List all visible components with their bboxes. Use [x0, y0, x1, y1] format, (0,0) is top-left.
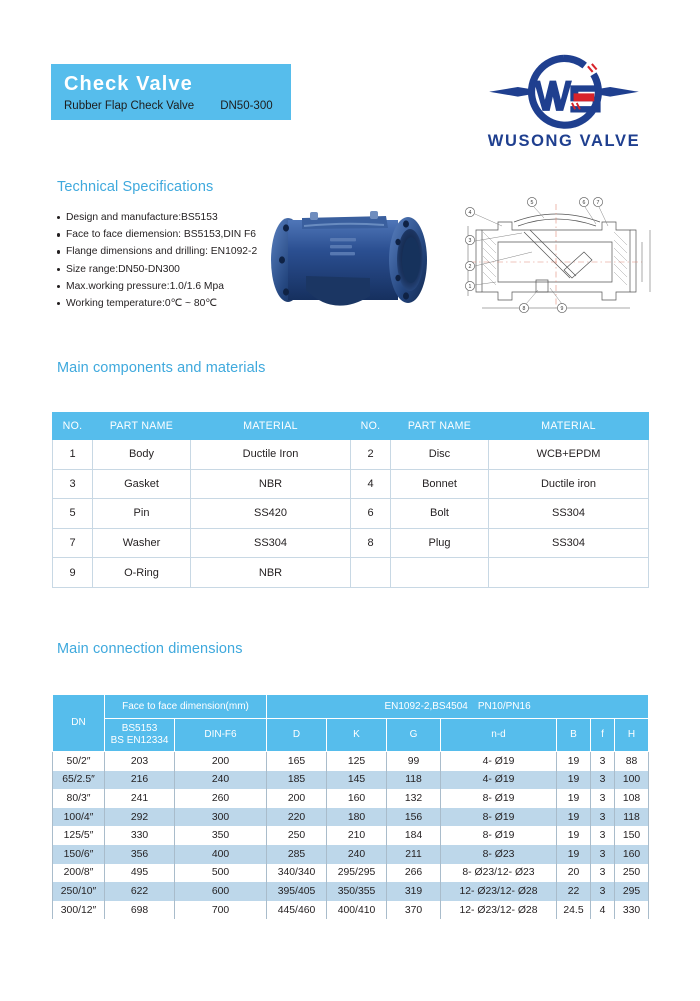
- cell-f: 3: [591, 789, 615, 808]
- section-heading-technical: Technical Specifications: [57, 179, 213, 195]
- cell-h: 108: [615, 789, 649, 808]
- cell-partname: Washer: [93, 528, 191, 558]
- callout-2: 2: [469, 264, 472, 270]
- cell-bs5153: 203: [105, 752, 175, 771]
- dimensions-table: DN Face to face dimension(mm) EN1092-2,B…: [52, 694, 649, 919]
- cell-nd: 8- Ø19: [441, 789, 557, 808]
- table-row: 125/5″ 330 350 250 210 184 8- Ø19 19 3 1…: [53, 826, 649, 845]
- cell-dn: 100/4″: [53, 808, 105, 827]
- cell-material: SS304: [489, 528, 649, 558]
- cell-g: 132: [387, 789, 441, 808]
- cell-b: 19: [557, 789, 591, 808]
- page-subtitle: Rubber Flap Check Valve: [64, 99, 194, 113]
- col-g: G: [387, 719, 441, 752]
- callout-3: 3: [469, 238, 472, 244]
- col-group-face-to-face: Face to face dimension(mm): [105, 695, 267, 719]
- cell-nd: 8- Ø19: [441, 826, 557, 845]
- col-no-1: NO.: [53, 413, 93, 440]
- cell-k: 160: [327, 789, 387, 808]
- callout-1: 1: [469, 284, 472, 290]
- title-banner: Check Valve Rubber Flap Check Valve DN50…: [51, 64, 291, 120]
- cell-d: 340/340: [267, 864, 327, 883]
- cell-b: 19: [557, 752, 591, 771]
- col-group-en1092: EN1092-2,BS4504 PN10/PN16: [267, 695, 649, 719]
- col-material-1: MATERIAL: [191, 413, 351, 440]
- cell-b: 19: [557, 808, 591, 827]
- cell-k: 145: [327, 771, 387, 790]
- spec-item: Flange dimensions and drilling: EN1092-2: [57, 243, 277, 260]
- col-no-2: NO.: [351, 413, 391, 440]
- cell-h: 160: [615, 845, 649, 864]
- cell-f: 4: [591, 901, 615, 920]
- cell-f: 3: [591, 771, 615, 790]
- materials-table: NO. PART NAME MATERIAL NO. PART NAME MAT…: [52, 412, 649, 588]
- cell-material: Ductile Iron: [191, 440, 351, 470]
- table-group-header-row: DN Face to face dimension(mm) EN1092-2,B…: [53, 695, 649, 719]
- spec-item: Working temperature:0℃ ~ 80℃: [57, 295, 277, 312]
- table-row: 5 Pin SS420 6 Bolt SS304: [53, 499, 649, 529]
- callout-6: 6: [583, 200, 586, 206]
- cell-dinf6: 240: [175, 771, 267, 790]
- table-row: 200/8″ 495 500 340/340 295/295 266 8- Ø2…: [53, 864, 649, 883]
- cell-g: 319: [387, 882, 441, 901]
- cell-dn: 125/5″: [53, 826, 105, 845]
- cell-b: 19: [557, 826, 591, 845]
- cell-d: 185: [267, 771, 327, 790]
- cell-dn: 150/6″: [53, 845, 105, 864]
- cell-dinf6: 400: [175, 845, 267, 864]
- cell-k: 295/295: [327, 864, 387, 883]
- cell-no: 6: [351, 499, 391, 529]
- cell-f: 3: [591, 808, 615, 827]
- cell-bs5153: 330: [105, 826, 175, 845]
- cell-g: 184: [387, 826, 441, 845]
- spec-item: Size range:DN50-DN300: [57, 261, 277, 278]
- cell-h: 250: [615, 864, 649, 883]
- section-heading-dimensions: Main connection dimensions: [57, 641, 243, 657]
- cell-dinf6: 300: [175, 808, 267, 827]
- product-photo: [258, 198, 444, 320]
- cell-material: SS420: [191, 499, 351, 529]
- cell-material: NBR: [191, 558, 351, 588]
- cell-material: NBR: [191, 469, 351, 499]
- company-logo: WUSONG VALVE: [484, 52, 644, 151]
- cell-material: WCB+EPDM: [489, 440, 649, 470]
- table-row: 150/6″ 356 400 285 240 211 8- Ø23 19 3 1…: [53, 845, 649, 864]
- cell-d: 285: [267, 845, 327, 864]
- cell-d: 165: [267, 752, 327, 771]
- col-h: H: [615, 719, 649, 752]
- col-b: B: [557, 719, 591, 752]
- col-bs5153: BS5153 BS EN12334: [105, 719, 175, 752]
- cell-dinf6: 200: [175, 752, 267, 771]
- cell-bs5153: 356: [105, 845, 175, 864]
- cell-no: 8: [351, 528, 391, 558]
- table-row: 50/2″ 203 200 165 125 99 4- Ø19 19 3 88: [53, 752, 649, 771]
- cell-partname: Gasket: [93, 469, 191, 499]
- cell-d: 250: [267, 826, 327, 845]
- cell-k: 210: [327, 826, 387, 845]
- cell-partname: Disc: [391, 440, 489, 470]
- cell-no: 7: [53, 528, 93, 558]
- spec-item: Design and manufacture:BS5153: [57, 209, 277, 226]
- cell-g: 118: [387, 771, 441, 790]
- table-row: 80/3″ 241 260 200 160 132 8- Ø19 19 3 10…: [53, 789, 649, 808]
- size-range-label: DN50-300: [220, 99, 272, 113]
- col-k: K: [327, 719, 387, 752]
- table-row: 65/2.5″ 216 240 185 145 118 4- Ø19 19 3 …: [53, 771, 649, 790]
- cell-dinf6: 260: [175, 789, 267, 808]
- cell-b: 22: [557, 882, 591, 901]
- col-nd: n-d: [441, 719, 557, 752]
- cell-d: 445/460: [267, 901, 327, 920]
- page-header: Check Valve Rubber Flap Check Valve DN50…: [0, 0, 700, 168]
- cell-no: 2: [351, 440, 391, 470]
- cell-no: 3: [53, 469, 93, 499]
- cell-f: 3: [591, 882, 615, 901]
- cell-dn: 200/8″: [53, 864, 105, 883]
- cell-h: 100: [615, 771, 649, 790]
- cell-no: 5: [53, 499, 93, 529]
- cell-nd: 12- Ø23/12- Ø28: [441, 882, 557, 901]
- cell-empty: [351, 558, 391, 588]
- cell-dn: 250/10″: [53, 882, 105, 901]
- cell-k: 400/410: [327, 901, 387, 920]
- cell-bs5153: 622: [105, 882, 175, 901]
- cell-b: 19: [557, 845, 591, 864]
- cell-g: 99: [387, 752, 441, 771]
- cell-nd: 4- Ø19: [441, 752, 557, 771]
- col-partname-2: PART NAME: [391, 413, 489, 440]
- cell-h: 150: [615, 826, 649, 845]
- cell-h: 88: [615, 752, 649, 771]
- page-title: Check Valve: [64, 72, 291, 96]
- cell-dinf6: 600: [175, 882, 267, 901]
- cell-bs5153: 698: [105, 901, 175, 920]
- cell-partname: Bonnet: [391, 469, 489, 499]
- cell-partname: Bolt: [391, 499, 489, 529]
- cell-k: 180: [327, 808, 387, 827]
- callout-8: 8: [523, 306, 526, 312]
- table-row: 3 Gasket NBR 4 Bonnet Ductile iron: [53, 469, 649, 499]
- cell-dn: 300/12″: [53, 901, 105, 920]
- cell-bs5153: 495: [105, 864, 175, 883]
- cell-material: SS304: [489, 499, 649, 529]
- cell-h: 330: [615, 901, 649, 920]
- callout-4: 4: [469, 210, 472, 216]
- cross-section-drawing: 1 2 3 4 5 6 7 8 9: [452, 196, 657, 322]
- cell-bs5153: 292: [105, 808, 175, 827]
- cell-f: 3: [591, 826, 615, 845]
- cell-f: 3: [591, 864, 615, 883]
- section-heading-materials: Main components and materials: [57, 360, 265, 376]
- col-din-f6: DIN-F6: [175, 719, 267, 752]
- cell-h: 295: [615, 882, 649, 901]
- company-name: WUSONG VALVE: [484, 132, 644, 151]
- cell-dn: 50/2″: [53, 752, 105, 771]
- cell-no: 4: [351, 469, 391, 499]
- cell-g: 266: [387, 864, 441, 883]
- cell-bs5153: 216: [105, 771, 175, 790]
- cell-no: 1: [53, 440, 93, 470]
- cell-k: 125: [327, 752, 387, 771]
- cell-d: 395/405: [267, 882, 327, 901]
- table-row: 250/10″ 622 600 395/405 350/355 319 12- …: [53, 882, 649, 901]
- cell-empty: [489, 558, 649, 588]
- cell-dinf6: 350: [175, 826, 267, 845]
- cell-partname: O-Ring: [93, 558, 191, 588]
- cell-dn: 65/2.5″: [53, 771, 105, 790]
- wusong-logo-icon: [484, 52, 644, 130]
- cell-partname: Plug: [391, 528, 489, 558]
- cell-h: 118: [615, 808, 649, 827]
- cell-k: 240: [327, 845, 387, 864]
- col-dn: DN: [53, 695, 105, 752]
- col-partname-1: PART NAME: [93, 413, 191, 440]
- callout-5: 5: [531, 200, 534, 206]
- cell-g: 370: [387, 901, 441, 920]
- cell-partname: Pin: [93, 499, 191, 529]
- cell-material: Ductile iron: [489, 469, 649, 499]
- cell-d: 200: [267, 789, 327, 808]
- cell-k: 350/355: [327, 882, 387, 901]
- table-row: 7 Washer SS304 8 Plug SS304: [53, 528, 649, 558]
- cell-nd: 8- Ø23: [441, 845, 557, 864]
- cell-nd: 8- Ø23/12- Ø23: [441, 864, 557, 883]
- table-row: 9 O-Ring NBR: [53, 558, 649, 588]
- table-row: 300/12″ 698 700 445/460 400/410 370 12- …: [53, 901, 649, 920]
- table-row: 100/4″ 292 300 220 180 156 8- Ø19 19 3 1…: [53, 808, 649, 827]
- cell-nd: 12- Ø23/12- Ø28: [441, 901, 557, 920]
- callout-7: 7: [597, 200, 600, 206]
- table-header-row: NO. PART NAME MATERIAL NO. PART NAME MAT…: [53, 413, 649, 440]
- cell-material: SS304: [191, 528, 351, 558]
- cell-b: 24.5: [557, 901, 591, 920]
- cell-bs5153: 241: [105, 789, 175, 808]
- cell-empty: [391, 558, 489, 588]
- technical-specifications-list: Design and manufacture:BS5153 Face to fa…: [57, 209, 277, 312]
- cell-no: 9: [53, 558, 93, 588]
- title-subtitle-row: Rubber Flap Check Valve DN50-300: [64, 99, 291, 113]
- spec-item: Face to face diemension: BS5153,DIN F6: [57, 226, 277, 243]
- cell-d: 220: [267, 808, 327, 827]
- callout-9: 9: [561, 306, 564, 312]
- spec-item: Max.working pressure:1.0/1.6 Mpa: [57, 278, 277, 295]
- cell-g: 211: [387, 845, 441, 864]
- col-d: D: [267, 719, 327, 752]
- cell-dinf6: 500: [175, 864, 267, 883]
- col-material-2: MATERIAL: [489, 413, 649, 440]
- col-f: f: [591, 719, 615, 752]
- cell-nd: 4- Ø19: [441, 771, 557, 790]
- cell-nd: 8- Ø19: [441, 808, 557, 827]
- cell-f: 3: [591, 845, 615, 864]
- cell-dn: 80/3″: [53, 789, 105, 808]
- col-bs5153-line2: BS EN12334: [105, 735, 174, 747]
- table-subheader-row: BS5153 BS EN12334 DIN-F6 D K G n-d B f H: [53, 719, 649, 752]
- cell-b: 20: [557, 864, 591, 883]
- table-row: 1 Body Ductile Iron 2 Disc WCB+EPDM: [53, 440, 649, 470]
- col-bs5153-line1: BS5153: [105, 723, 174, 735]
- cell-partname: Body: [93, 440, 191, 470]
- cell-b: 19: [557, 771, 591, 790]
- cell-g: 156: [387, 808, 441, 827]
- cell-dinf6: 700: [175, 901, 267, 920]
- cell-f: 3: [591, 752, 615, 771]
